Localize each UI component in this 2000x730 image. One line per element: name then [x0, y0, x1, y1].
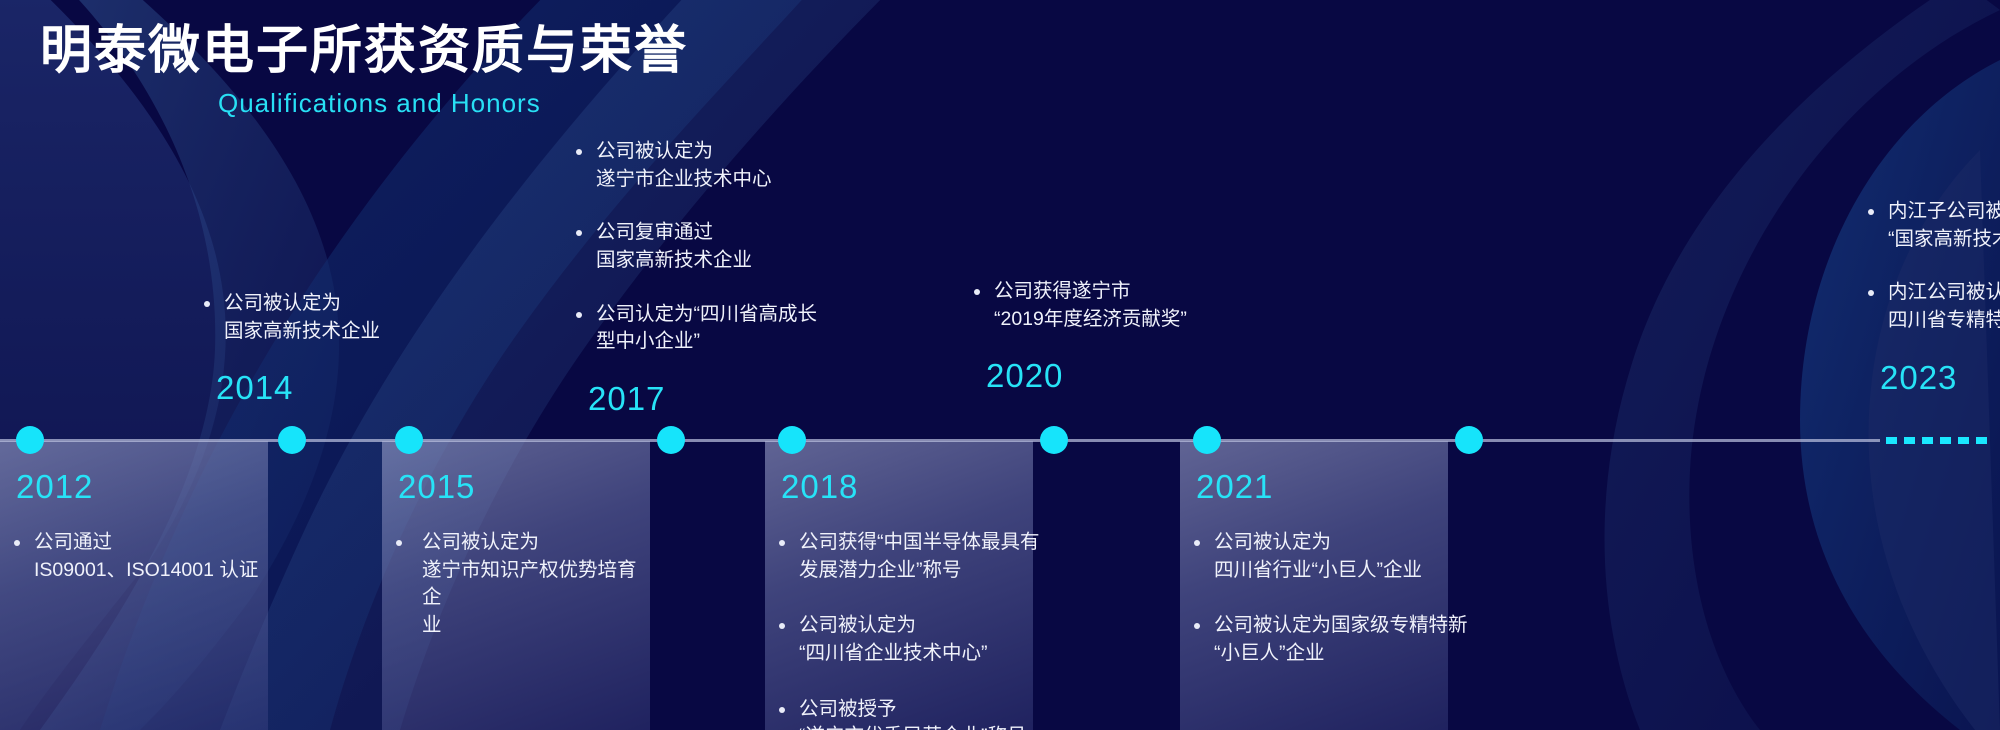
list-item: 公司被认定为 四川省行业“小巨人”企业 — [1188, 529, 1488, 584]
bullet-list-2020: 公司获得遂宁市 “2019年度经济贡献奖” — [968, 278, 1248, 333]
list-item: 公司获得“中国半导体最具有 发展潜力企业”称号 — [773, 529, 1063, 584]
year-label-2017: 2017 — [570, 382, 860, 415]
year-label-2014: 2014 — [198, 371, 458, 404]
year-label-2018: 2018 — [773, 470, 1063, 503]
timeline-entry-2018: 2018 公司获得“中国半导体最具有 发展潜力企业”称号 公司被认定为 “四川省… — [773, 470, 1063, 730]
timeline-node-2014[interactable] — [278, 426, 306, 454]
bullet-list-2023: 内江子公司被认定为 “国家高新技术企业” 内江公司被认定为 四川省专精特新企业 — [1862, 198, 2000, 335]
timeline-entry-2014: 公司被认定为 国家高新技术企业 2014 — [198, 290, 458, 404]
timeline-entry-2020: 公司获得遂宁市 “2019年度经济贡献奖” 2020 — [968, 278, 1248, 392]
list-item: 内江公司被认定为 四川省专精特新企业 — [1862, 279, 2000, 334]
list-item: 公司被认定为 国家高新技术企业 — [198, 290, 458, 345]
timeline-node-2017[interactable] — [657, 426, 685, 454]
list-item: 公司被认定为国家级专精特新 “小巨人”企业 — [1188, 612, 1488, 667]
year-label-2020: 2020 — [968, 359, 1248, 392]
timeline-axis-dashes — [1886, 437, 1987, 444]
list-item: 公司被认定为 遂宁市企业技术中心 — [570, 138, 860, 193]
bullet-list-2014: 公司被认定为 国家高新技术企业 — [198, 290, 458, 345]
year-label-2012: 2012 — [8, 470, 283, 503]
list-item: 公司被授予 “遂宁市优秀民营企业”称号 — [773, 696, 1063, 730]
timeline-node-2023[interactable] — [1455, 426, 1483, 454]
slide-canvas: 明泰微电子所获资质与荣誉 Qualifications and Honors 公… — [0, 0, 2000, 730]
list-item: 公司被认定为 “四川省企业技术中心” — [773, 612, 1063, 667]
page-title: 明泰微电子所获资质与荣誉 — [40, 22, 688, 82]
page-subtitle: Qualifications and Honors — [40, 88, 688, 119]
timeline-node-2018[interactable] — [778, 426, 806, 454]
year-label-2015: 2015 — [390, 470, 652, 503]
list-item: 公司获得遂宁市 “2019年度经济贡献奖” — [968, 278, 1248, 333]
list-item: 公司复审通过 国家高新技术企业 — [570, 219, 860, 274]
year-label-2021: 2021 — [1188, 470, 1488, 503]
bullet-list-2012: 公司通过 IS09001、ISO14001 认证 — [8, 529, 283, 584]
list-item: 内江子公司被认定为 “国家高新技术企业” — [1862, 198, 2000, 253]
slide-header: 明泰微电子所获资质与荣誉 Qualifications and Honors — [40, 22, 688, 119]
timeline-entry-2012: 2012 公司通过 IS09001、ISO14001 认证 — [8, 470, 283, 584]
timeline-node-2012[interactable] — [16, 426, 44, 454]
list-item: 公司通过 IS09001、ISO14001 认证 — [8, 529, 283, 584]
bullet-list-2021: 公司被认定为 四川省行业“小巨人”企业 公司被认定为国家级专精特新 “小巨人”企… — [1188, 529, 1488, 668]
timeline-entry-2021: 2021 公司被认定为 四川省行业“小巨人”企业 公司被认定为国家级专精特新 “… — [1188, 470, 1488, 668]
timeline-entry-2023: 内江子公司被认定为 “国家高新技术企业” 内江公司被认定为 四川省专精特新企业 … — [1862, 198, 2000, 394]
bullet-list-2018: 公司获得“中国半导体最具有 发展潜力企业”称号 公司被认定为 “四川省企业技术中… — [773, 529, 1063, 730]
list-item: 公司认定为“四川省高成长 型中小企业” — [570, 301, 860, 356]
timeline-node-2015[interactable] — [395, 426, 423, 454]
bullet-list-2017: 公司被认定为 遂宁市企业技术中心 公司复审通过 国家高新技术企业 公司认定为“四… — [570, 138, 860, 356]
list-item: 公司被认定为 遂宁市知识产权优势培育企 业 — [390, 529, 652, 640]
year-label-2023: 2023 — [1862, 361, 2000, 394]
timeline-entry-2015: 2015 公司被认定为 遂宁市知识产权优势培育企 业 — [390, 470, 652, 640]
bullet-list-2015: 公司被认定为 遂宁市知识产权优势培育企 业 — [390, 529, 652, 640]
timeline-node-2021[interactable] — [1193, 426, 1221, 454]
timeline-node-2020[interactable] — [1040, 426, 1068, 454]
timeline-entry-2017: 公司被认定为 遂宁市企业技术中心 公司复审通过 国家高新技术企业 公司认定为“四… — [570, 138, 860, 415]
